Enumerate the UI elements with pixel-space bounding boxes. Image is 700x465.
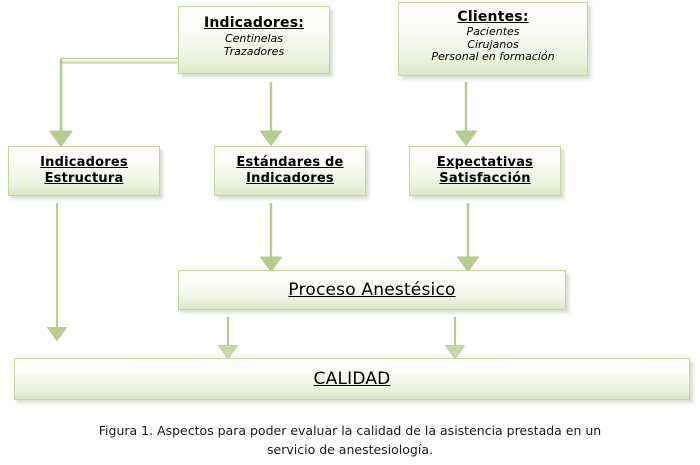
node-indicadores[interactable]: Indicadores: Centinelas Trazadores — [178, 6, 330, 74]
diagram-canvas: Indicadores: Centinelas Trazadores Clien… — [0, 0, 700, 465]
node-expectativas-line1: Expectativas — [437, 155, 533, 171]
node-estandares-line1: Estándares de — [236, 155, 343, 171]
node-clientes-sub-1: Pacientes — [466, 26, 519, 39]
node-clientes[interactable]: Clientes: Pacientes Cirujanos Personal e… — [398, 2, 588, 76]
figure-caption-line1: Figura 1. Aspectos para poder evaluar la… — [0, 422, 700, 441]
node-expectativas-line2: Satisfacción — [439, 171, 530, 187]
node-calidad-title: CALIDAD — [314, 369, 391, 389]
connector-indicadores-to-estructura — [61, 59, 178, 137]
node-clientes-sub-3: Personal en formación — [431, 51, 554, 64]
node-clientes-title: Clientes: — [457, 9, 528, 25]
node-estandares-line2: Indicadores — [246, 171, 334, 187]
node-indicadores-title: Indicadores: — [204, 15, 304, 31]
node-expectativas-satisfaccion[interactable]: Expectativas Satisfacción — [409, 146, 561, 196]
figure-caption: Figura 1. Aspectos para poder evaluar la… — [0, 422, 700, 460]
node-indicadores-sub-2: Trazadores — [224, 46, 284, 59]
node-estandares-indicadores[interactable]: Estándares de Indicadores — [214, 146, 366, 196]
node-calidad[interactable]: CALIDAD — [14, 358, 690, 400]
figure-caption-line2: servicio de anestesiología. — [0, 441, 700, 460]
node-indicadores-estructura[interactable]: Indicadores Estructura — [8, 146, 160, 196]
node-indicadores-estructura-line1: Indicadores — [40, 155, 128, 171]
node-indicadores-sub-1: Centinelas — [225, 33, 283, 46]
node-proceso-title: Proceso Anestésico — [288, 280, 455, 300]
node-indicadores-estructura-line2: Estructura — [45, 171, 124, 187]
node-proceso-anestesico[interactable]: Proceso Anestésico — [178, 270, 566, 310]
